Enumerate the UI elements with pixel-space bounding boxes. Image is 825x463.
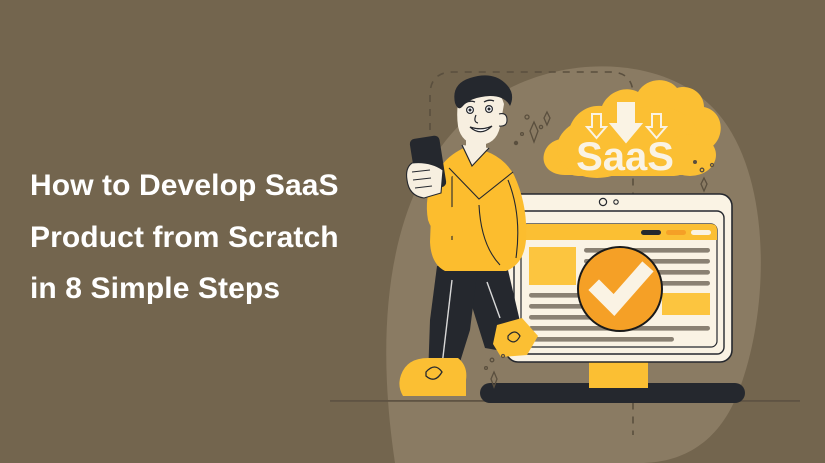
minimize-button — [666, 230, 686, 235]
person-ear — [499, 114, 507, 127]
browser-titlebar — [521, 224, 717, 240]
monitor-camera-dot-small — [614, 200, 618, 204]
content-accent-block — [662, 293, 710, 315]
person-hand — [407, 163, 443, 198]
cloud-label: SaaS — [576, 135, 674, 179]
page-title: How to Develop SaaS Product from Scratch… — [30, 160, 390, 315]
close-button — [641, 230, 661, 235]
person-front-shoe — [399, 358, 466, 396]
monitor-camera-dot-large — [599, 198, 606, 205]
maximize-button — [691, 230, 711, 235]
check-badge — [578, 247, 662, 331]
content-image-block — [529, 247, 576, 285]
banner-card: SaaS — [0, 0, 825, 463]
